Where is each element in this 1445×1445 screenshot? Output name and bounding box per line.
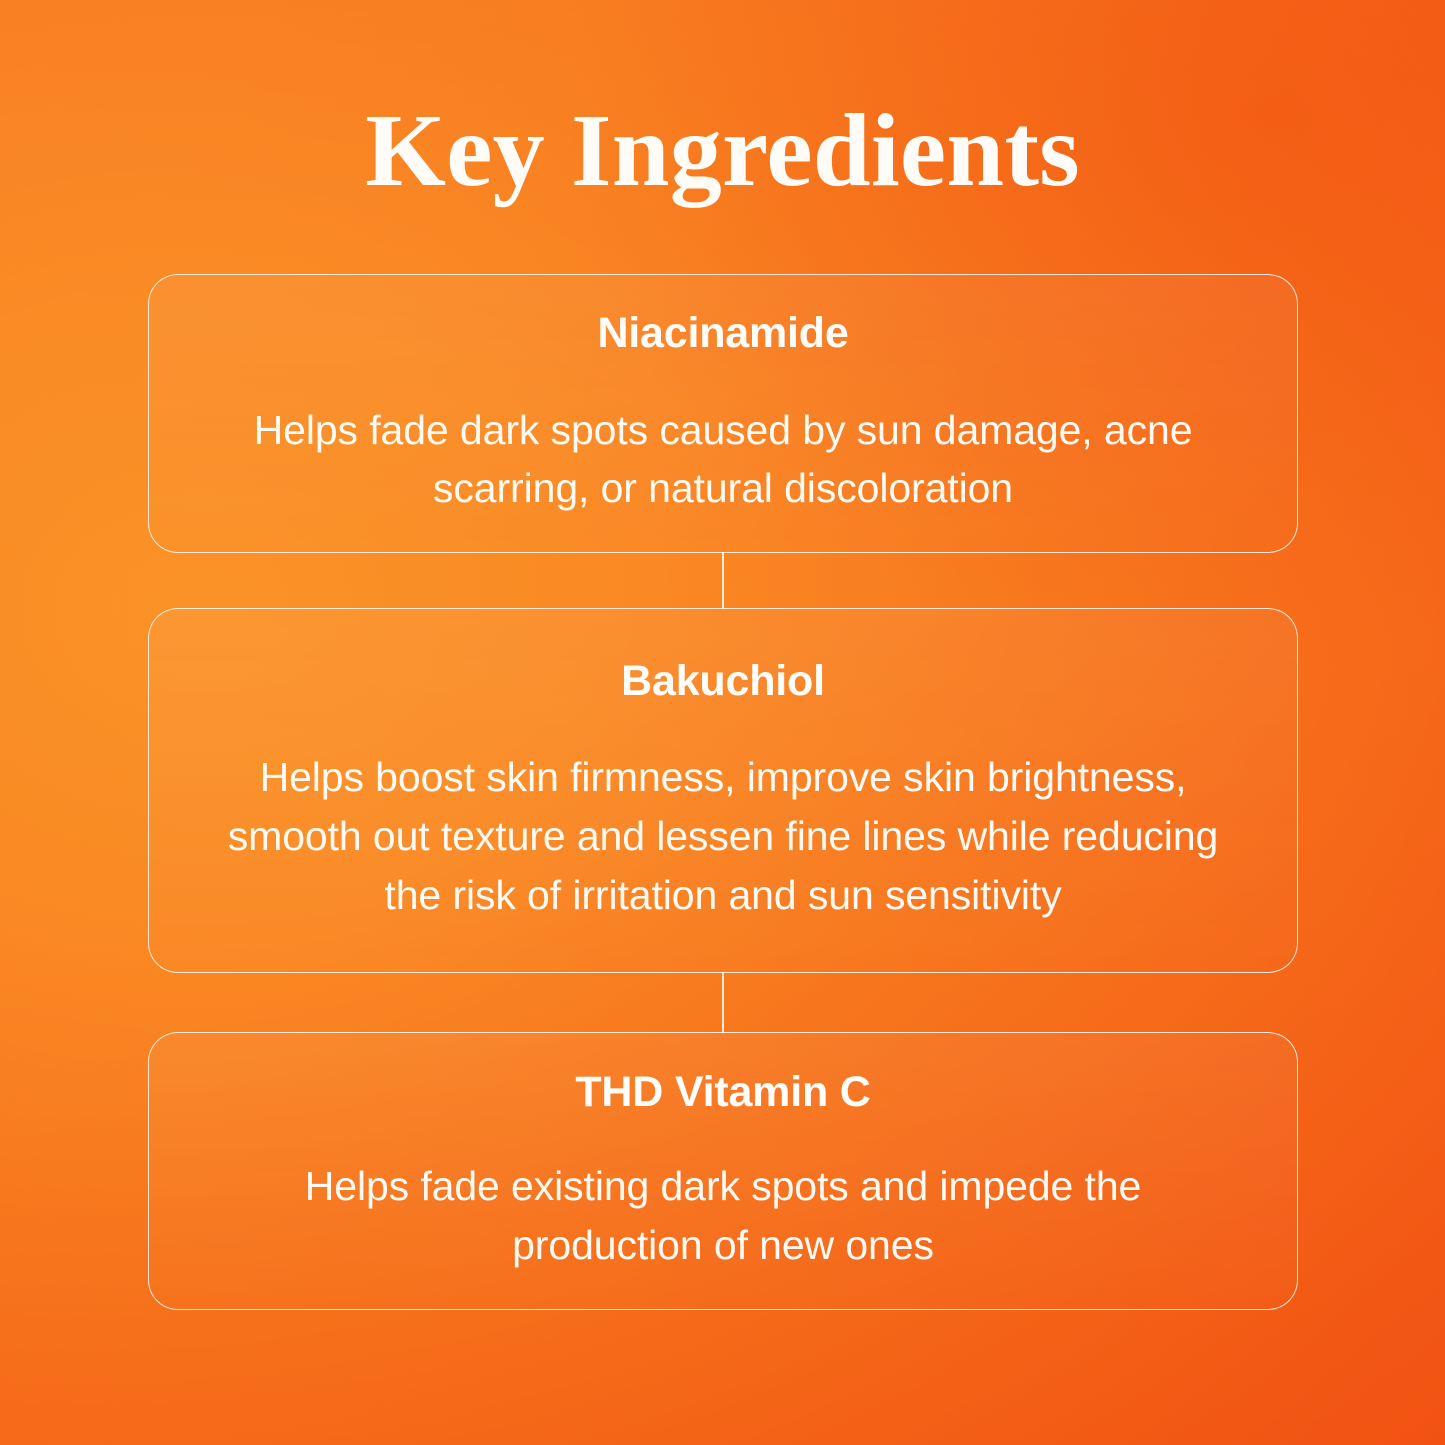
ingredient-description: Helps boost skin firmness, improve skin …	[218, 748, 1228, 924]
ingredient-card-bakuchiol: Bakuchiol Helps boost skin firmness, imp…	[148, 608, 1298, 973]
ingredient-card-niacinamide: Niacinamide Helps fade dark spots caused…	[148, 274, 1298, 553]
ingredient-description: Helps fade existing dark spots and imped…	[218, 1157, 1228, 1274]
ingredient-title: Niacinamide	[597, 309, 848, 358]
card-connector-line-1	[722, 552, 724, 609]
page-title: Key Ingredients	[0, 96, 1445, 205]
ingredient-title: THD Vitamin C	[575, 1068, 870, 1117]
ingredient-title: Bakuchiol	[621, 657, 825, 706]
ingredient-description: Helps fade dark spots caused by sun dama…	[218, 401, 1228, 518]
ingredient-card-thd-vitamin-c: THD Vitamin C Helps fade existing dark s…	[148, 1032, 1298, 1310]
key-ingredients-infographic: Key Ingredients Niacinamide Helps fade d…	[0, 0, 1445, 1445]
card-connector-line-2	[722, 972, 724, 1033]
